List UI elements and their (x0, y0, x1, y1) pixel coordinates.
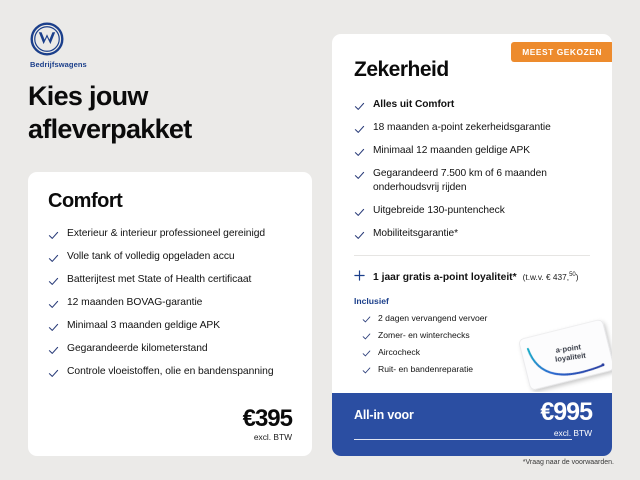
feature-label: Gegarandeerd 7.500 km of 6 maanden onder… (373, 167, 590, 195)
vw-logo-icon (30, 22, 64, 56)
comfort-title: Comfort (48, 190, 292, 213)
brand-subtitle: Bedrijfswagens (30, 60, 270, 69)
check-icon (48, 276, 59, 287)
list-item: Uitgebreide 130-puntencheck (354, 204, 590, 218)
check-icon (48, 368, 59, 379)
feature-label: Exterieur & interieur professioneel gere… (67, 227, 265, 241)
list-item: Ruit- en bandenreparatie (362, 364, 590, 375)
zekerheid-price-note: excl. BTW (540, 428, 592, 438)
check-icon (362, 366, 371, 375)
check-icon (354, 147, 365, 158)
list-item: 2 dagen vervangend vervoer (362, 313, 590, 324)
list-item: Batterijtest met State of Health certifi… (48, 273, 292, 287)
check-icon (362, 332, 371, 341)
feature-label: Gegarandeerde kilometerstand (67, 342, 208, 356)
zekerheid-package-card[interactable]: MEEST GEKOZEN Zekerheid Alles uit Comfor… (332, 34, 612, 456)
zekerheid-price-block: €995 excl. BTW (540, 399, 592, 438)
check-icon (362, 349, 371, 358)
list-item: 18 maanden a-point zekerheidsgarantie (354, 121, 590, 135)
feature-label: Minimaal 3 maanden geldige APK (67, 319, 220, 333)
inclusief-label: Aircocheck (378, 347, 420, 358)
feature-label: Volle tank of volledig opgeladen accu (67, 250, 235, 264)
feature-label: Uitgebreide 130-puntencheck (373, 204, 505, 218)
check-icon (354, 170, 365, 181)
comfort-package-card[interactable]: Comfort Exterieur & interieur profession… (28, 172, 312, 456)
check-icon (48, 299, 59, 310)
list-item: Controle vloeistoffen, olie en bandenspa… (48, 365, 292, 379)
zekerheid-price-bar: All-in voor €995 excl. BTW (332, 393, 612, 456)
list-item: Zomer- en winterchecks (362, 330, 590, 341)
zekerheid-title: Zekerheid (354, 58, 590, 82)
feature-label: Minimaal 12 maanden geldige APK (373, 144, 530, 158)
list-item: Volle tank of volledig opgeladen accu (48, 250, 292, 264)
page-title: Kies jouw afleverpakket (28, 80, 318, 147)
inclusief-title: Inclusief (354, 296, 590, 306)
disclaimer-text: *Vraag naar de voorwaarden. (523, 459, 614, 466)
inclusief-list: 2 dagen vervangend vervoerZomer- en wint… (354, 313, 590, 375)
inclusief-section: Inclusief 2 dagen vervangend vervoerZome… (354, 296, 590, 375)
plus-icon (354, 270, 365, 281)
zekerheid-feature-list: Alles uit Comfort18 maanden a-point zeke… (354, 98, 590, 241)
allin-label: All-in voor (354, 408, 414, 422)
list-item: Gegarandeerd 7.500 km of 6 maanden onder… (354, 167, 590, 195)
inclusief-label: Zomer- en winterchecks (378, 330, 470, 341)
check-icon (48, 230, 59, 241)
check-icon (362, 315, 371, 324)
section-divider (354, 255, 590, 256)
brand-block: Bedrijfswagens (30, 22, 270, 69)
list-item: Mobiliteitsgarantie* (354, 227, 590, 241)
feature-label: Controle vloeistoffen, olie en bandenspa… (67, 365, 274, 379)
list-item: Alles uit Comfort (354, 98, 590, 112)
feature-label: Alles uit Comfort (373, 98, 454, 112)
check-icon (48, 322, 59, 333)
check-icon (354, 124, 365, 135)
zekerheid-body: Zekerheid Alles uit Comfort18 maanden a-… (332, 34, 612, 375)
price-underline (354, 439, 572, 440)
list-item: 12 maanden BOVAG-garantie (48, 296, 292, 310)
check-icon (354, 101, 365, 112)
list-item: Minimaal 12 maanden geldige APK (354, 144, 590, 158)
comfort-price-block: €395 excl. BTW (243, 406, 292, 442)
feature-label: 12 maanden BOVAG-garantie (67, 296, 202, 310)
check-icon (48, 345, 59, 356)
loyalty-label: 1 jaar gratis a-point loyaliteit* (373, 272, 517, 283)
check-icon (354, 207, 365, 218)
loyalty-offer-row: 1 jaar gratis a-point loyaliteit* (t.w.v… (354, 269, 590, 283)
feature-label: Batterijtest met State of Health certifi… (67, 273, 251, 287)
list-item: Minimaal 3 maanden geldige APK (48, 319, 292, 333)
check-icon (354, 230, 365, 241)
comfort-price-note: excl. BTW (243, 432, 292, 442)
loyalty-value: (t.w.v. € 437,50) (523, 272, 579, 282)
comfort-price-amount: €395 (243, 406, 292, 431)
inclusief-label: 2 dagen vervangend vervoer (378, 313, 487, 324)
feature-label: 18 maanden a-point zekerheidsgarantie (373, 121, 551, 135)
list-item: Gegarandeerde kilometerstand (48, 342, 292, 356)
feature-label: Mobiliteitsgarantie* (373, 227, 458, 241)
comfort-feature-list: Exterieur & interieur professioneel gere… (48, 227, 292, 379)
inclusief-label: Ruit- en bandenreparatie (378, 364, 473, 375)
check-icon (48, 253, 59, 264)
list-item: Exterieur & interieur professioneel gere… (48, 227, 292, 241)
list-item: Aircocheck (362, 347, 590, 358)
zekerheid-price-amount: €995 (540, 399, 592, 427)
